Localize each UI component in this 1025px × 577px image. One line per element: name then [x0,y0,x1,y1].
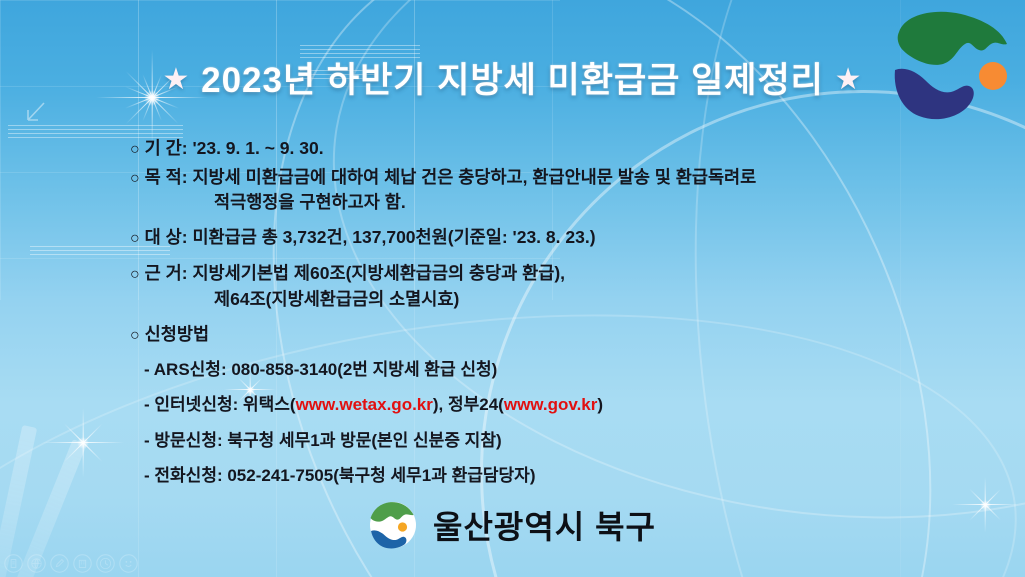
info-row-target: ○대 상: 미환급금 총 3,732건, 137,700천원(기준일: '23.… [130,225,995,251]
info-label: 근 거 [145,263,182,283]
poster-footer: 울산광역시 북구 [0,501,1025,549]
info-separator: : [182,227,188,247]
smiley-icon [119,554,138,573]
info-row-period: ○기 간: '23. 9. 1. ~ 9. 30. [130,136,995,162]
info-separator: : [182,167,188,187]
wetax-url-link[interactable]: www.wetax.go.kr [296,395,433,414]
info-label: 대 상 [145,227,182,247]
apply-method-phone: - 전화신청: 052-241-7505(북구청 세무1과 환급담당자) [130,464,995,488]
info-separator: : [182,138,188,158]
info-row-purpose: ○목 적: 지방세 미환급금에 대하여 체납 건은 충당하고, 환급안내문 발송… [130,165,995,191]
organization-name: 울산광역시 북구 [433,502,656,548]
dash-marker: - [144,431,150,450]
apply-method-text: 인터넷신청: 위택스( [154,395,295,414]
document-icon [4,554,23,573]
poster-title-text: 2023년 하반기 지방세 미환급금 일제정리 [201,61,824,100]
apply-section-heading: ○신청방법 [130,322,995,348]
arrow-decoration-icon [22,100,48,126]
bullet-icon: ○ [130,266,140,283]
apply-section-heading-text: 신청방법 [145,324,209,344]
building-icon [73,554,92,573]
info-label: 기 간 [145,138,182,158]
dash-marker: - [144,466,150,485]
sparkle-decoration [40,400,126,486]
ulsan-bukgu-logo-icon [369,501,417,549]
info-row-basis: ○근 거: 지방세기본법 제60조(지방세환급금의 충당과 환급), [130,261,995,287]
bullet-icon: ○ [130,141,140,158]
dash-marker: - [144,360,150,379]
bullet-icon: ○ [130,170,140,187]
bullet-icon: ○ [130,327,140,344]
apply-method-mid: ), 정부24( [433,395,504,414]
apply-method-text: 전화신청: 052-241-7505(북구청 세무1과 환급담당자) [154,466,535,485]
apply-method-post: ) [597,395,603,414]
gov24-url-link[interactable]: www.gov.kr [504,395,598,414]
apply-method-visit: - 방문신청: 북구청 세무1과 방문(본인 신분증 지참) [130,429,995,453]
info-value: 지방세 미환급금에 대하여 체납 건은 충당하고, 환급안내문 발송 및 환급독… [192,167,756,187]
apply-method-text: 방문신청: 북구청 세무1과 방문(본인 신분증 지참) [154,431,501,450]
info-value: '23. 9. 1. ~ 9. 30. [192,138,323,158]
star-left-icon: ★ [162,63,190,96]
info-label: 목 적 [145,167,182,187]
poster-canvas: ★ 2023년 하반기 지방세 미환급금 일제정리 ★ ○기 간: '23. 9… [0,0,1025,577]
info-row-purpose-continued: 적극행정을 구현하고자 함. [130,190,995,215]
info-value: 미환급금 총 3,732건, 137,700천원(기준일: '23. 8. 23… [192,227,595,247]
bullet-icon: ○ [130,230,140,247]
info-row-basis-continued: 제64조(지방세환급금의 소멸시효) [130,287,995,312]
poster-title: ★ 2023년 하반기 지방세 미환급금 일제정리 ★ [162,52,862,103]
pencil-icon [50,554,69,573]
watermark-icon-strip [4,554,138,573]
dash-marker: - [144,395,150,414]
poster-title-wrap: ★ 2023년 하반기 지방세 미환급금 일제정리 ★ [0,52,1025,103]
star-right-icon: ★ [835,63,863,96]
apply-method-internet: - 인터넷신청: 위택스(www.wetax.go.kr), 정부24(www.… [130,393,995,417]
info-value: 지방세기본법 제60조(지방세환급금의 충당과 환급), [192,263,565,283]
apply-method-text: ARS신청: 080-858-3140(2번 지방세 환급 신청) [154,360,498,379]
apply-method-ars: - ARS신청: 080-858-3140(2번 지방세 환급 신청) [130,358,995,382]
globe-icon [27,554,46,573]
clock-icon [96,554,115,573]
poster-body: ○기 간: '23. 9. 1. ~ 9. 30. ○목 적: 지방세 미환급금… [130,133,995,488]
info-separator: : [182,263,188,283]
